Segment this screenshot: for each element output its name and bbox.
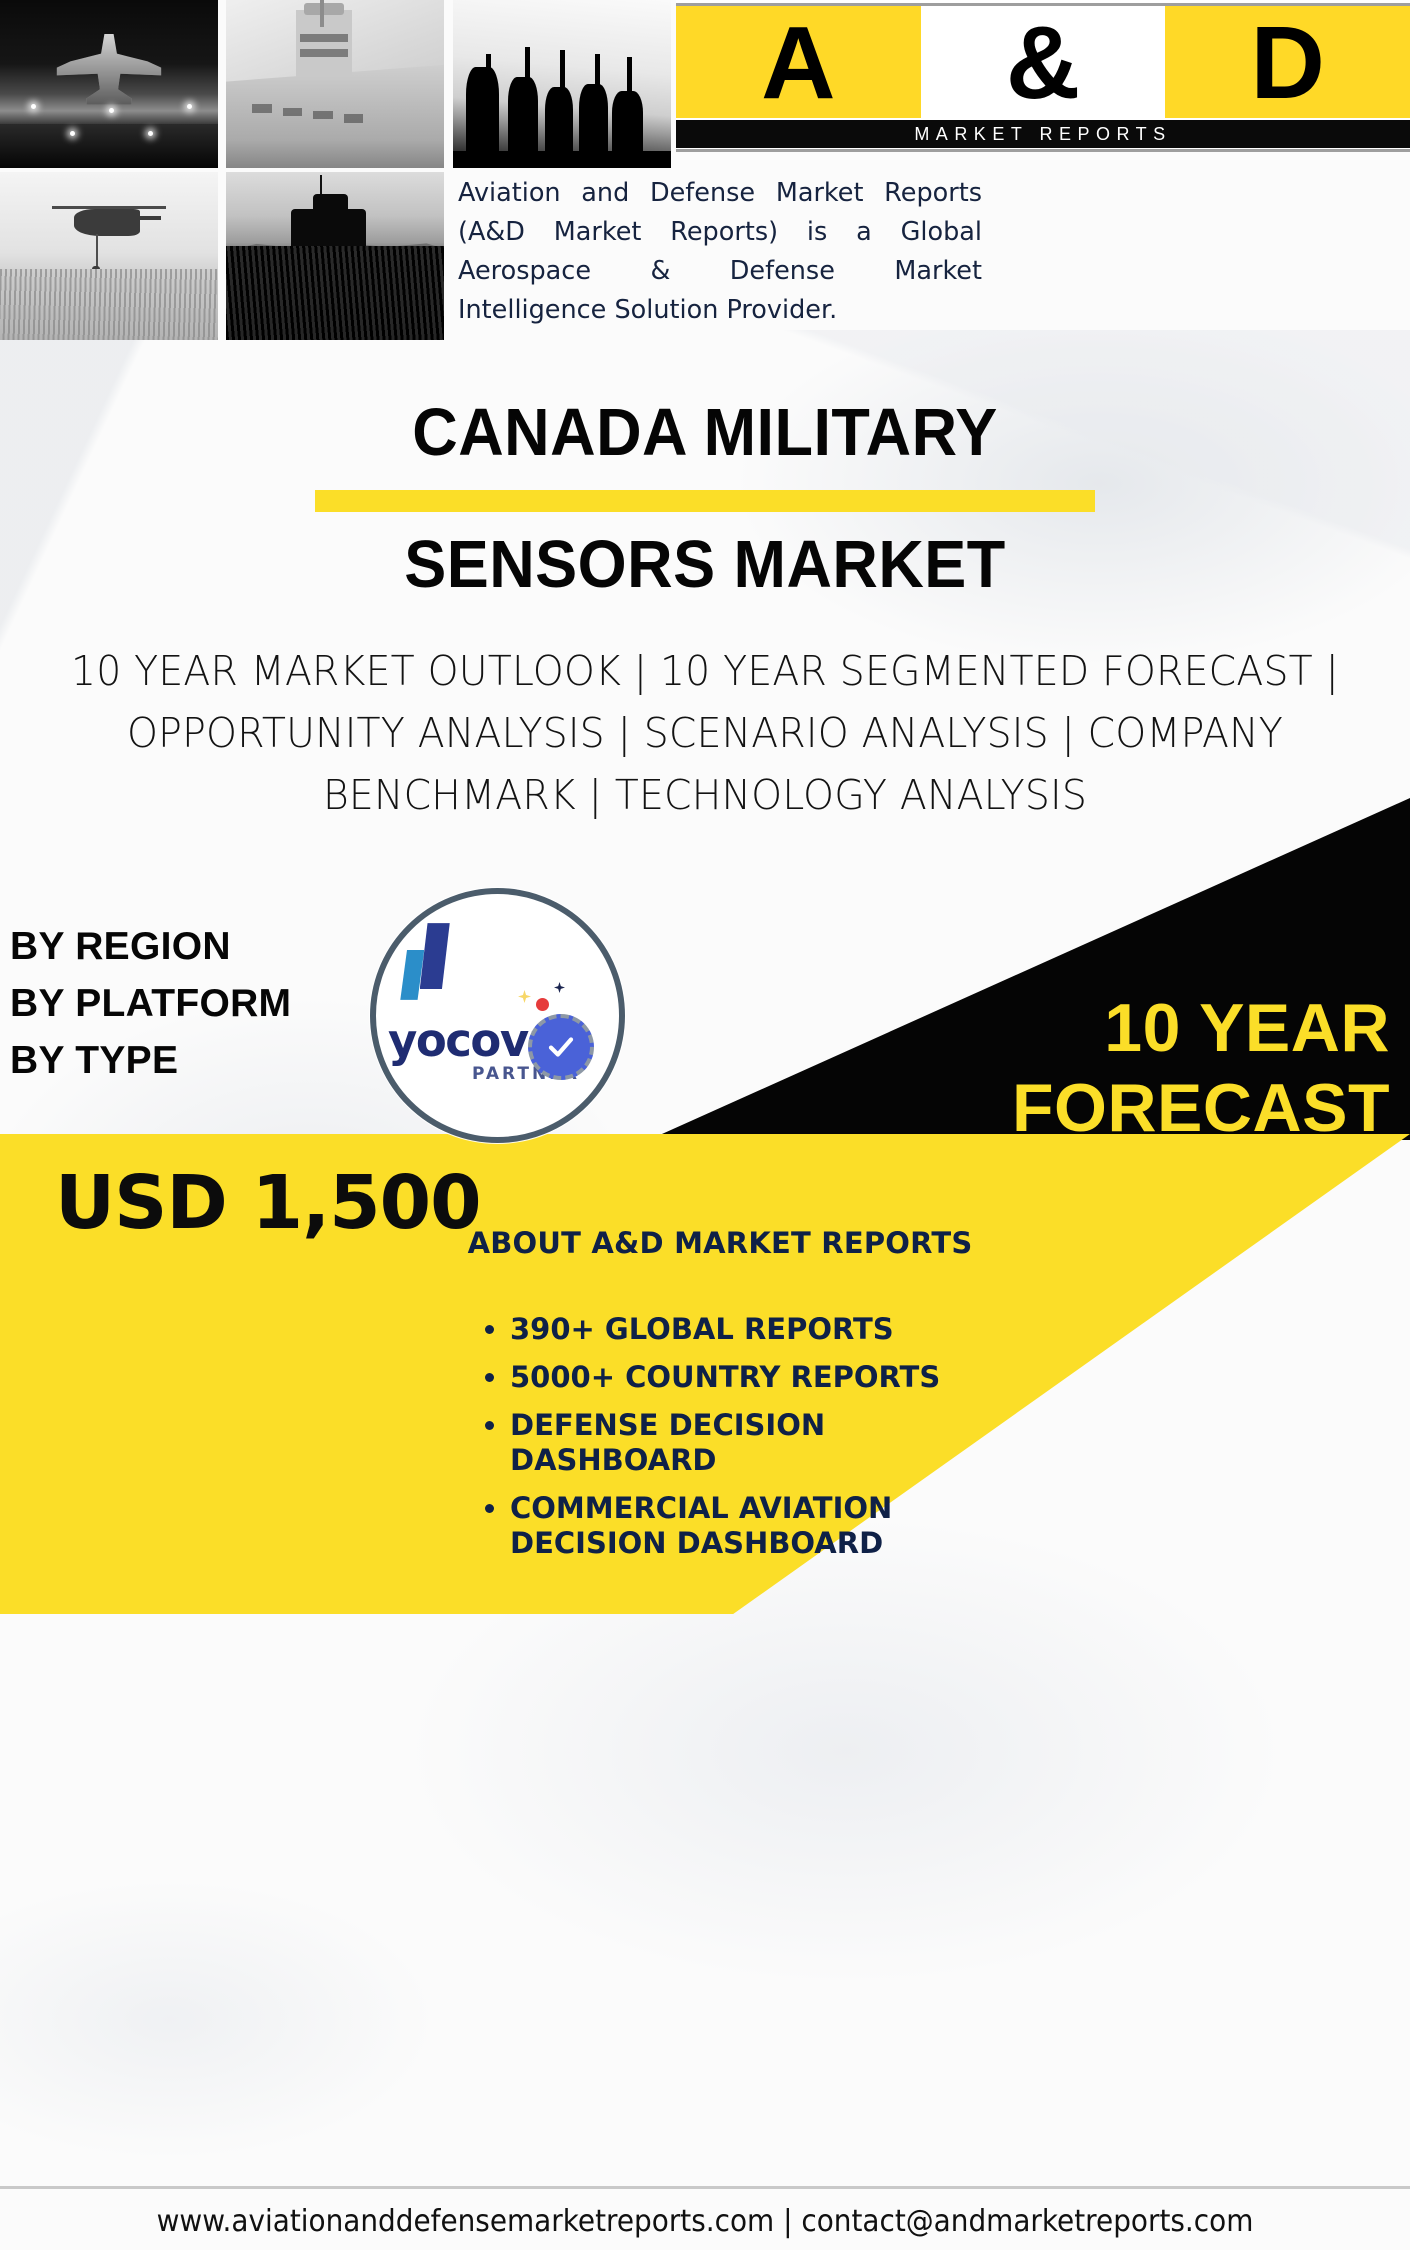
footer-contact-text[interactable]: www.aviationanddefensemarketreports.com … xyxy=(157,2204,1254,2239)
title-block: CANADA MILITARY SENSORS MARKET xyxy=(0,398,1410,601)
ad-market-reports-logo: A & D MARKET REPORTS xyxy=(676,0,1410,152)
subheadline: 10 YEAR MARKET OUTLOOK | 10 YEAR SEGMENT… xyxy=(57,640,1353,826)
footer-divider xyxy=(0,2186,1410,2189)
about-yellow-rule xyxy=(476,1269,976,1274)
forecast-line-2: FORECAST xyxy=(700,1068,1390,1148)
report-cover-poster: A & D MARKET REPORTS Aviation and Defens… xyxy=(0,0,1410,2250)
list-item: DEFENSE DECISION DASHBOARD xyxy=(510,1408,978,1478)
logo-letter-cells: A & D xyxy=(676,6,1410,118)
segmentation-item-platform: BY PLATFORM xyxy=(10,975,291,1032)
segmentation-item-region: BY REGION xyxy=(10,918,291,975)
helicopter-photo xyxy=(0,172,218,340)
page-title-line-2: SENSORS MARKET xyxy=(42,530,1367,600)
page-title-line-1: CANADA MILITARY xyxy=(42,398,1367,468)
logo-letter-ampersand: & xyxy=(921,6,1166,118)
red-dot-icon xyxy=(536,998,549,1011)
aircraft-carrier-photo xyxy=(226,0,444,168)
armored-vehicle-photo xyxy=(226,172,444,340)
forecast-line-1: 10 YEAR xyxy=(700,988,1390,1068)
yellow-sparkle-icon xyxy=(518,990,531,1003)
company-description: Aviation and Defense Market Reports (A&D… xyxy=(458,174,982,330)
yocova-partner-badge: yocova PARTNER xyxy=(370,888,625,1143)
about-bullet-list: 390+ GLOBAL REPORTS 5000+ COUNTRY REPORT… xyxy=(462,1312,978,1561)
list-item: 390+ GLOBAL REPORTS xyxy=(510,1312,978,1347)
price-label: USD 1,500 xyxy=(55,1160,481,1246)
fighter-jet-photo xyxy=(0,0,218,168)
list-item: COMMERCIAL AVIATION DECISION DASHBOARD xyxy=(510,1491,978,1561)
navy-sparkle-icon xyxy=(554,982,565,993)
yocova-chevron-light-icon xyxy=(400,950,424,1000)
logo-subtitle-band: MARKET REPORTS xyxy=(676,120,1410,148)
yocova-chevron-dark-icon xyxy=(420,923,450,989)
check-badge-icon xyxy=(528,1014,594,1080)
segmentation-list: BY REGION BY PLATFORM BY TYPE xyxy=(10,918,291,1089)
about-heading: ABOUT A&D MARKET REPORTS xyxy=(462,1226,978,1260)
soldiers-silhouette-photo xyxy=(453,0,671,168)
logo-letter-a: A xyxy=(676,6,921,118)
segmentation-item-type: BY TYPE xyxy=(10,1032,291,1089)
footer-contact: www.aviationanddefensemarketreports.com … xyxy=(49,2192,1360,2250)
list-item: 5000+ COUNTRY REPORTS xyxy=(510,1360,978,1395)
title-yellow-rule xyxy=(315,490,1095,512)
forecast-banner: 10 YEAR FORECAST xyxy=(700,988,1390,1148)
logo-subtitle-text: MARKET REPORTS xyxy=(914,124,1171,145)
about-block: ABOUT A&D MARKET REPORTS 390+ GLOBAL REP… xyxy=(462,1226,978,1574)
logo-bottom-rule xyxy=(676,149,1410,152)
logo-letter-d: D xyxy=(1165,6,1410,118)
